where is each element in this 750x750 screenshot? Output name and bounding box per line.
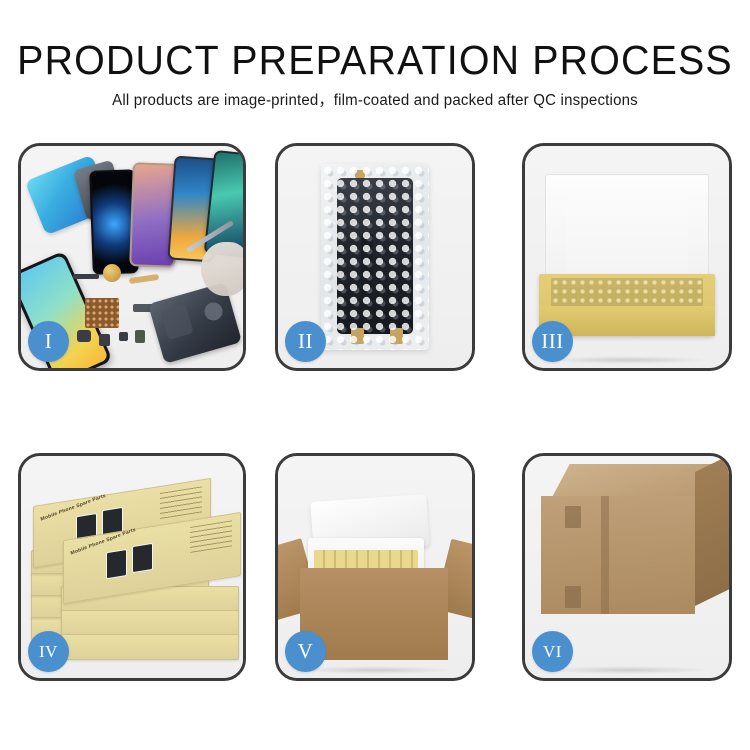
process-step-panel-3: III [522,143,732,371]
page-title: PRODUCT PREPARATION PROCESS [15,40,735,81]
label-text-lines [160,486,202,519]
chip-board-part [85,298,119,328]
open-mailer-box [539,174,715,338]
retail-box [61,634,239,660]
step-badge-4: IV [28,631,69,672]
retail-box-stack: Mobile Phone Spare Parts Mobile Phone Sp… [31,474,233,660]
step-badge-6: VI [532,631,573,672]
process-step-panel-5: V [275,453,475,681]
small-part [135,330,145,343]
technician-hand [201,242,243,296]
step-badge-2: II [285,321,326,362]
carton-tape [601,496,609,614]
step-badge-3: III [532,321,573,362]
drop-shadow [545,356,708,364]
bubble-wrap-bag [321,164,429,350]
page-subtitle: All products are image-printed，film-coat… [11,88,739,110]
step-badge-5: V [285,631,326,672]
carton-handle-tab [565,586,581,608]
process-step-panel-6: VI [522,453,732,681]
small-part [99,334,110,346]
product-image-1 [106,549,127,579]
product-image-2 [132,543,153,573]
process-step-panel-1: I [18,143,246,371]
small-part [119,332,128,341]
process-steps-grid: I II [0,138,750,698]
carton-handle-tab [565,506,581,528]
bubble-texture [321,164,429,350]
carton-side-face [695,456,729,606]
bubble-wrapped-contents [551,278,703,306]
flex-cable-part [129,274,160,284]
speaker-part-icon [103,264,121,282]
process-step-panel-2: II [275,143,475,371]
drop-shadow [545,666,708,674]
retail-box [61,610,239,636]
small-part [77,330,91,342]
sealed-carton-front [541,496,695,614]
drop-shadow [297,666,452,674]
small-part [73,274,99,279]
step-badge-1: I [28,321,69,362]
label-text-lines [190,520,232,553]
process-step-panel-4: Mobile Phone Spare Parts Mobile Phone Sp… [18,453,246,681]
